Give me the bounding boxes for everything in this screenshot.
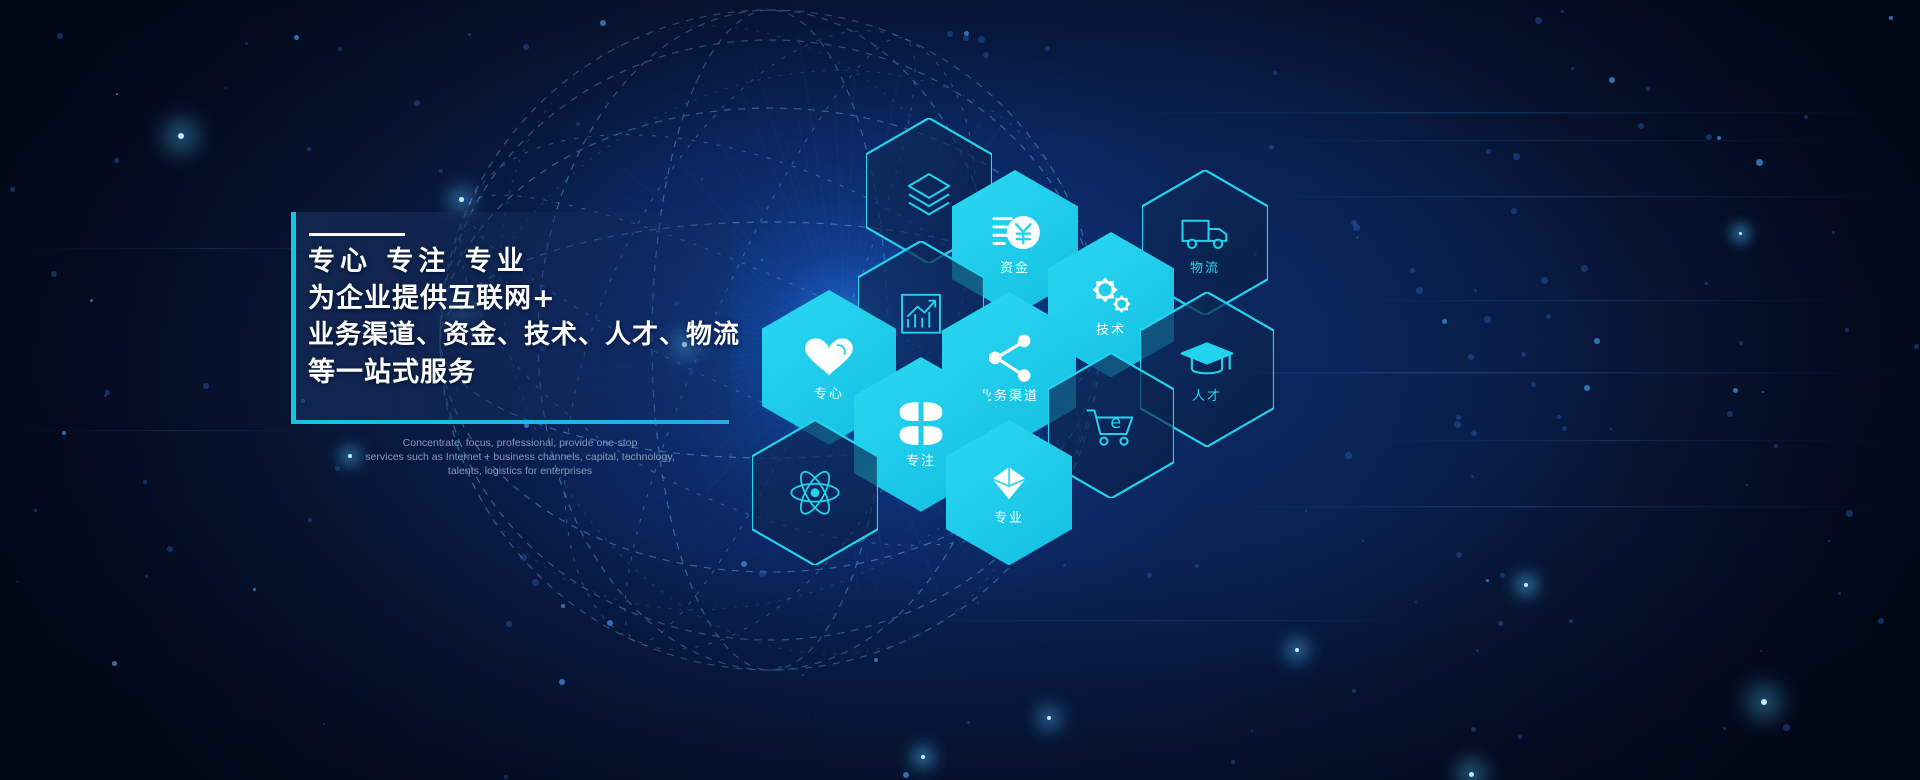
hex-tile-zhuanye[interactable]: 专业 xyxy=(946,420,1072,565)
hex-tile-atom[interactable] xyxy=(752,420,878,565)
hexagon-grid: 资金 xyxy=(0,0,1920,780)
svg-text:e: e xyxy=(1110,413,1121,433)
hex-shape-atom xyxy=(752,420,878,565)
hero-banner: 专心 专注 专业 为企业提供互联网+ 业务渠道、资金、技术、人才、物流 等一站式… xyxy=(0,0,1920,780)
hex-shape-zhuanye xyxy=(946,420,1072,565)
